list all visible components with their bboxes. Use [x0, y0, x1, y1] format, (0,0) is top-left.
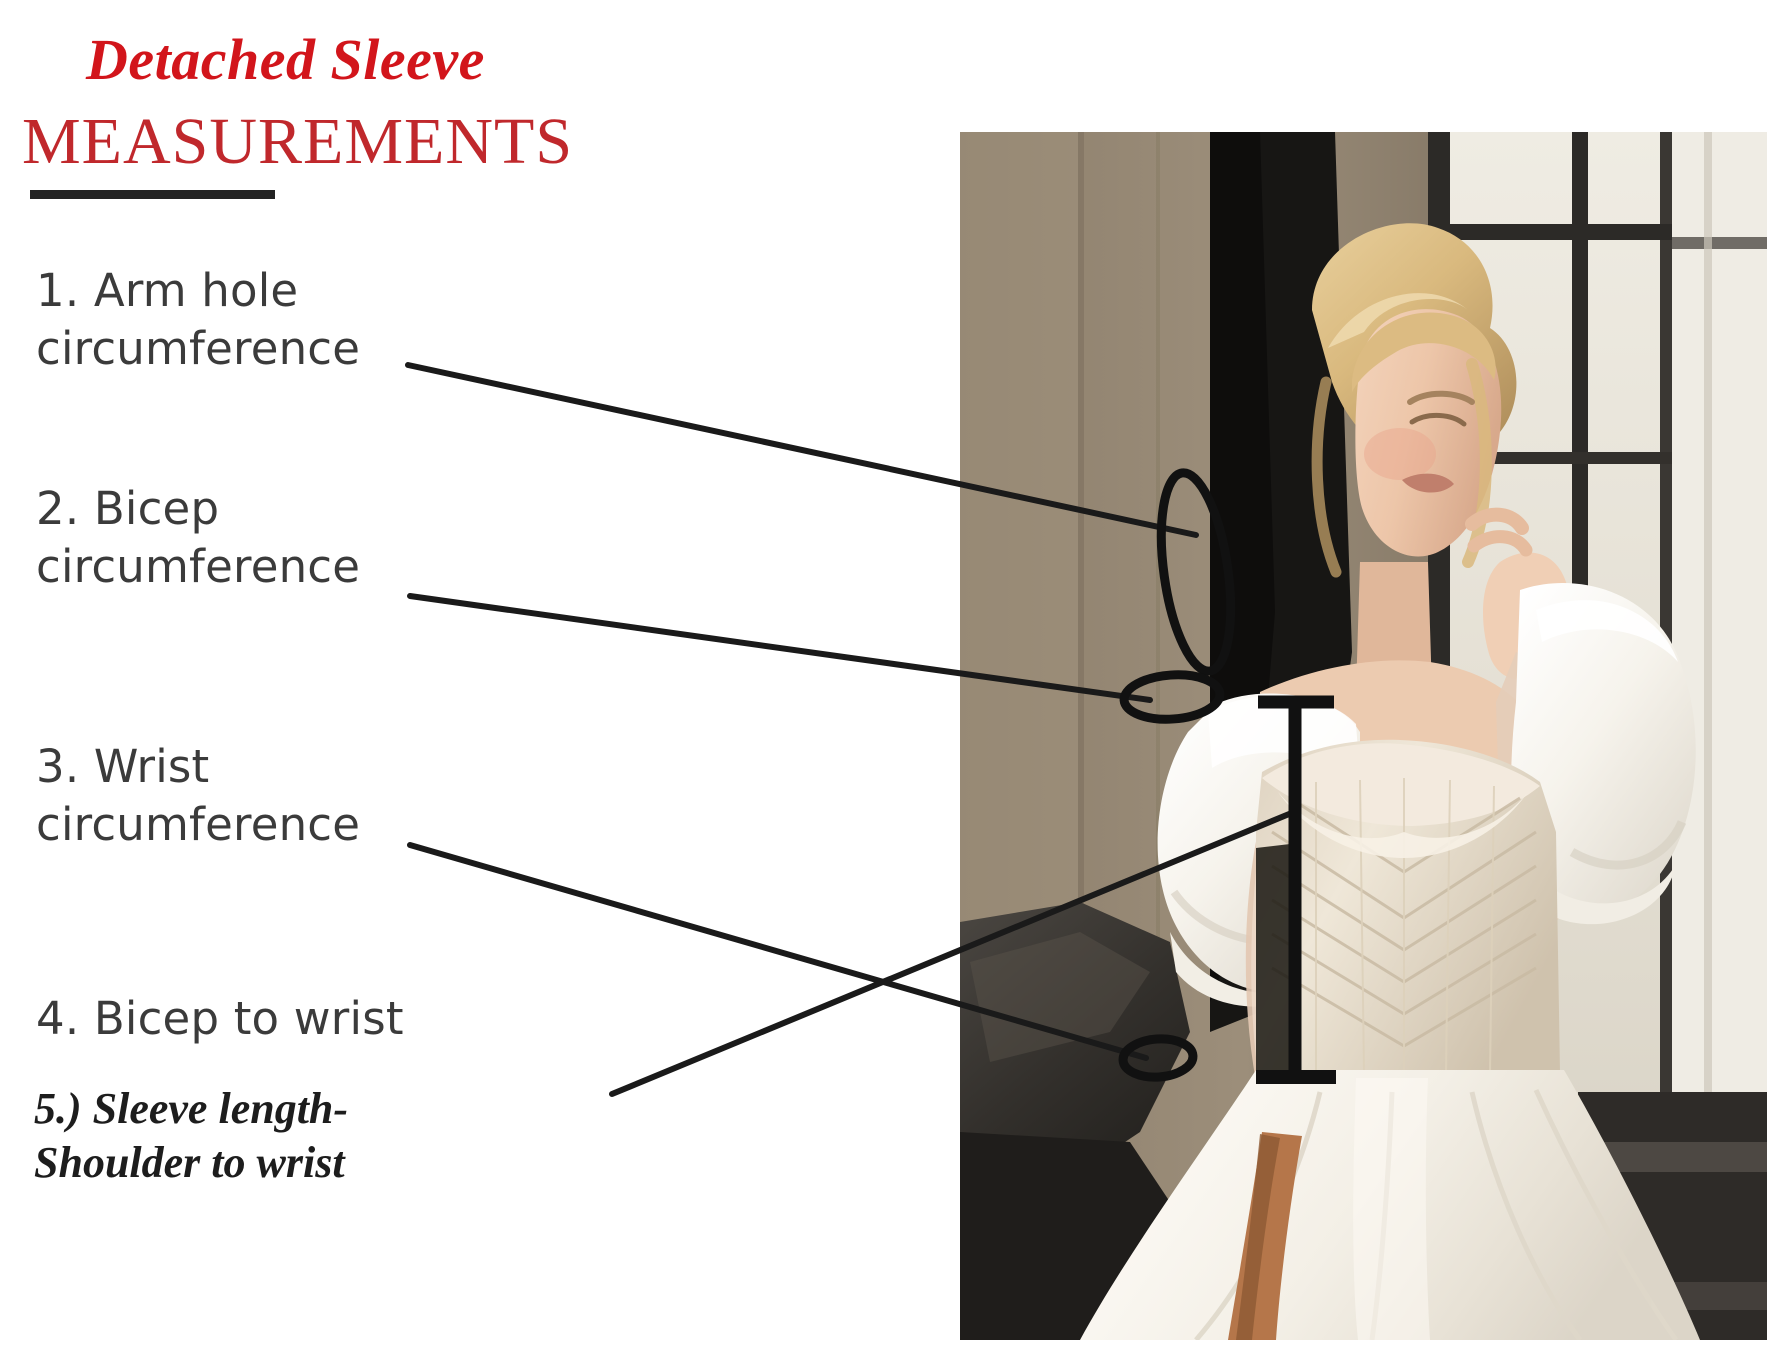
measurement-guide-page: Detached Sleeve MEASUREMENTS 1. Arm hole… [0, 0, 1767, 1348]
measurement-item-bicep-to-wrist: 4. Bicep to wrist [36, 990, 404, 1048]
bride-photo [960, 132, 1767, 1340]
measurement-item-wrist-circumference: 3. Wrist circumference [36, 738, 360, 853]
measurement-item-arm-hole-circumference: 1. Arm hole circumference [36, 262, 360, 377]
page-title-main: MEASUREMENTS [22, 104, 573, 180]
title-underline-rule [30, 190, 275, 199]
left-text-panel: Detached Sleeve MEASUREMENTS 1. Arm hole… [0, 0, 960, 1348]
measurement-item-sleeve-length: 5.) Sleeve length- Shoulder to wrist [34, 1082, 504, 1189]
measurement-item-bicep-circumference: 2. Bicep circumference [36, 480, 360, 595]
page-title-script: Detached Sleeve [86, 26, 485, 93]
